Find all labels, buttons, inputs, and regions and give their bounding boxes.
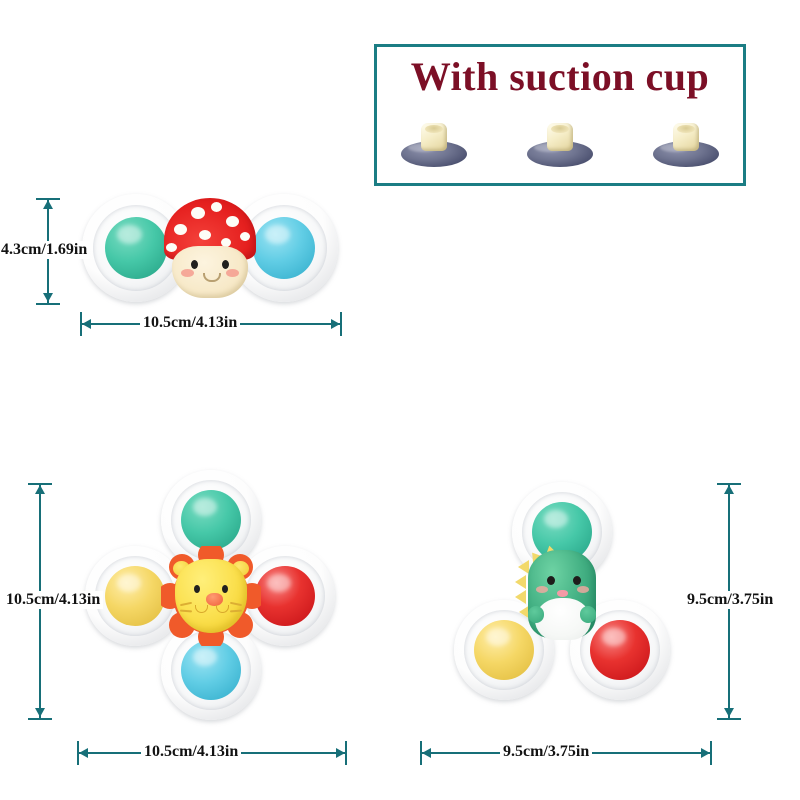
suction-cup-stem	[673, 123, 699, 151]
suction-cup-stem	[547, 123, 573, 151]
blush-left	[536, 586, 548, 593]
mushroom-dot	[166, 243, 177, 252]
banner-title: With suction cup	[377, 53, 743, 100]
spinner-ball-green	[105, 217, 167, 279]
mushroom-height-label: 4.3cm/1.69in	[0, 241, 90, 259]
mushroom-spinner-product	[82, 190, 342, 305]
mushroom-character-hub	[164, 198, 256, 302]
spinner-ball-blue	[253, 217, 315, 279]
eye-left	[194, 585, 200, 593]
lion-face	[175, 559, 247, 633]
dinosaur-arm-left	[528, 606, 544, 623]
suction-cup-icon-3	[651, 123, 721, 169]
suction-cup-banner: With suction cup	[374, 44, 746, 186]
mouth	[203, 273, 221, 282]
spinner-ball-red	[255, 566, 315, 626]
suction-cup-row	[377, 123, 743, 169]
mushroom-dot	[226, 216, 239, 227]
whisker	[180, 602, 192, 606]
dino-spike	[515, 590, 526, 604]
lion-width-dimension: 10.5cm/4.13in	[75, 738, 353, 774]
dino-spike	[518, 560, 529, 574]
eye-right	[222, 260, 229, 269]
dinosaur-width-label: 9.5cm/3.75in	[500, 743, 592, 761]
mushroom-dot	[199, 230, 211, 240]
spinner-ball-blue	[181, 640, 241, 700]
lion-character-hub	[161, 546, 261, 646]
mushroom-dot	[191, 207, 205, 219]
mushroom-dot	[240, 232, 250, 241]
dinosaur-height-label: 9.5cm/3.75in	[684, 591, 776, 609]
lion-height-label: 10.5cm/4.13in	[3, 591, 103, 609]
mushroom-width-dimension: 10.5cm/4.13in	[78, 308, 346, 344]
blush-right	[577, 586, 589, 593]
mouth-right	[216, 605, 229, 613]
mouth-left	[195, 605, 208, 613]
mushroom-face	[172, 246, 248, 298]
mushroom-width-label: 10.5cm/4.13in	[140, 314, 240, 332]
mouth	[557, 590, 568, 597]
suction-cup-icon-1	[399, 123, 469, 169]
whisker	[230, 602, 242, 606]
product-size-infographic: With suction cup	[0, 0, 800, 800]
blush-left	[181, 269, 194, 277]
eye-left	[547, 576, 555, 585]
blush-right	[226, 269, 239, 277]
dino-spike	[515, 575, 526, 589]
dinosaur-character-hub	[512, 544, 612, 644]
spinner-ball-green	[181, 490, 241, 550]
dinosaur-spinner-product	[448, 482, 676, 708]
lion-height-dimension: 10.5cm/4.13in	[22, 480, 132, 725]
eye-right	[573, 576, 581, 585]
suction-cup-stem	[421, 123, 447, 151]
dinosaur-width-dimension: 9.5cm/3.75in	[418, 738, 718, 774]
eye-right	[222, 585, 228, 593]
whisker	[230, 610, 242, 612]
eye-left	[191, 260, 198, 269]
mushroom-height-dimension: 4.3cm/1.69in	[18, 195, 108, 310]
whisker	[180, 610, 192, 612]
dinosaur-arm-right	[580, 606, 596, 623]
mushroom-dot	[174, 224, 187, 235]
lion-width-label: 10.5cm/4.13in	[141, 743, 241, 761]
mushroom-dot	[211, 202, 222, 212]
dinosaur-height-dimension: 9.5cm/3.75in	[706, 480, 800, 725]
suction-cup-icon-2	[525, 123, 595, 169]
